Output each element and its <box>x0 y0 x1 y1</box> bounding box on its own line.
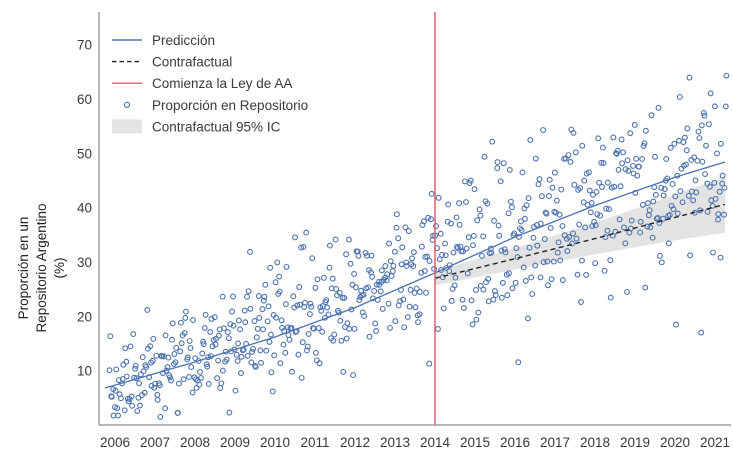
chart-figure: 10203040506070 2006200720082009201020112… <box>0 0 733 472</box>
y-tick-label: 50 <box>77 146 92 161</box>
y-tick-label: 40 <box>77 201 92 216</box>
x-tick-label: 2015 <box>460 435 490 450</box>
x-tick-label: 2009 <box>220 435 250 450</box>
legend-swatch-band <box>112 119 142 133</box>
x-tick-label: 2014 <box>420 435 451 450</box>
x-tick-label: 2013 <box>380 435 410 450</box>
x-tick-label: 2006 <box>100 435 130 450</box>
y-axis-tick-labels: 10203040506070 <box>77 38 92 379</box>
x-axis-tick-labels: 2006200720082009201020112012201320142015… <box>100 435 730 450</box>
legend-label: Comienza la Ley de AA <box>152 76 292 91</box>
scatter-plot: 10203040506070 2006200720082009201020112… <box>0 0 733 472</box>
legend-label: Contrafactual <box>152 55 232 70</box>
x-tick-label: 2021 <box>700 435 730 450</box>
x-tick-label: 2011 <box>300 435 329 450</box>
x-tick-label: 2012 <box>340 435 370 450</box>
legend-label: Proporción en Repositorio <box>152 98 308 113</box>
x-tick-label: 2016 <box>500 435 530 450</box>
y-axis-title-line-2: Repositorio Argentino <box>34 203 49 332</box>
x-tick-label: 2019 <box>620 435 650 450</box>
y-axis-title: Proporción en un Repositorio Argentino (… <box>16 203 67 332</box>
y-tick-label: 30 <box>77 255 92 270</box>
y-tick-label: 70 <box>77 38 92 53</box>
y-axis-title-line-1: Proporción en un <box>16 217 31 320</box>
legend-label: Predicción <box>152 33 215 48</box>
x-tick-label: 2007 <box>140 435 170 450</box>
y-tick-label: 60 <box>77 92 92 107</box>
legend-label: Contrafactual 95% IC <box>152 119 281 134</box>
x-tick-label: 2020 <box>660 435 690 450</box>
x-tick-label: 2017 <box>540 435 570 450</box>
x-tick-label: 2008 <box>180 435 210 450</box>
x-tick-label: 2010 <box>260 435 290 450</box>
y-tick-label: 10 <box>77 364 92 379</box>
y-axis-title-line-3: (%) <box>52 258 67 279</box>
x-tick-label: 2018 <box>580 435 610 450</box>
y-tick-label: 20 <box>77 309 92 324</box>
